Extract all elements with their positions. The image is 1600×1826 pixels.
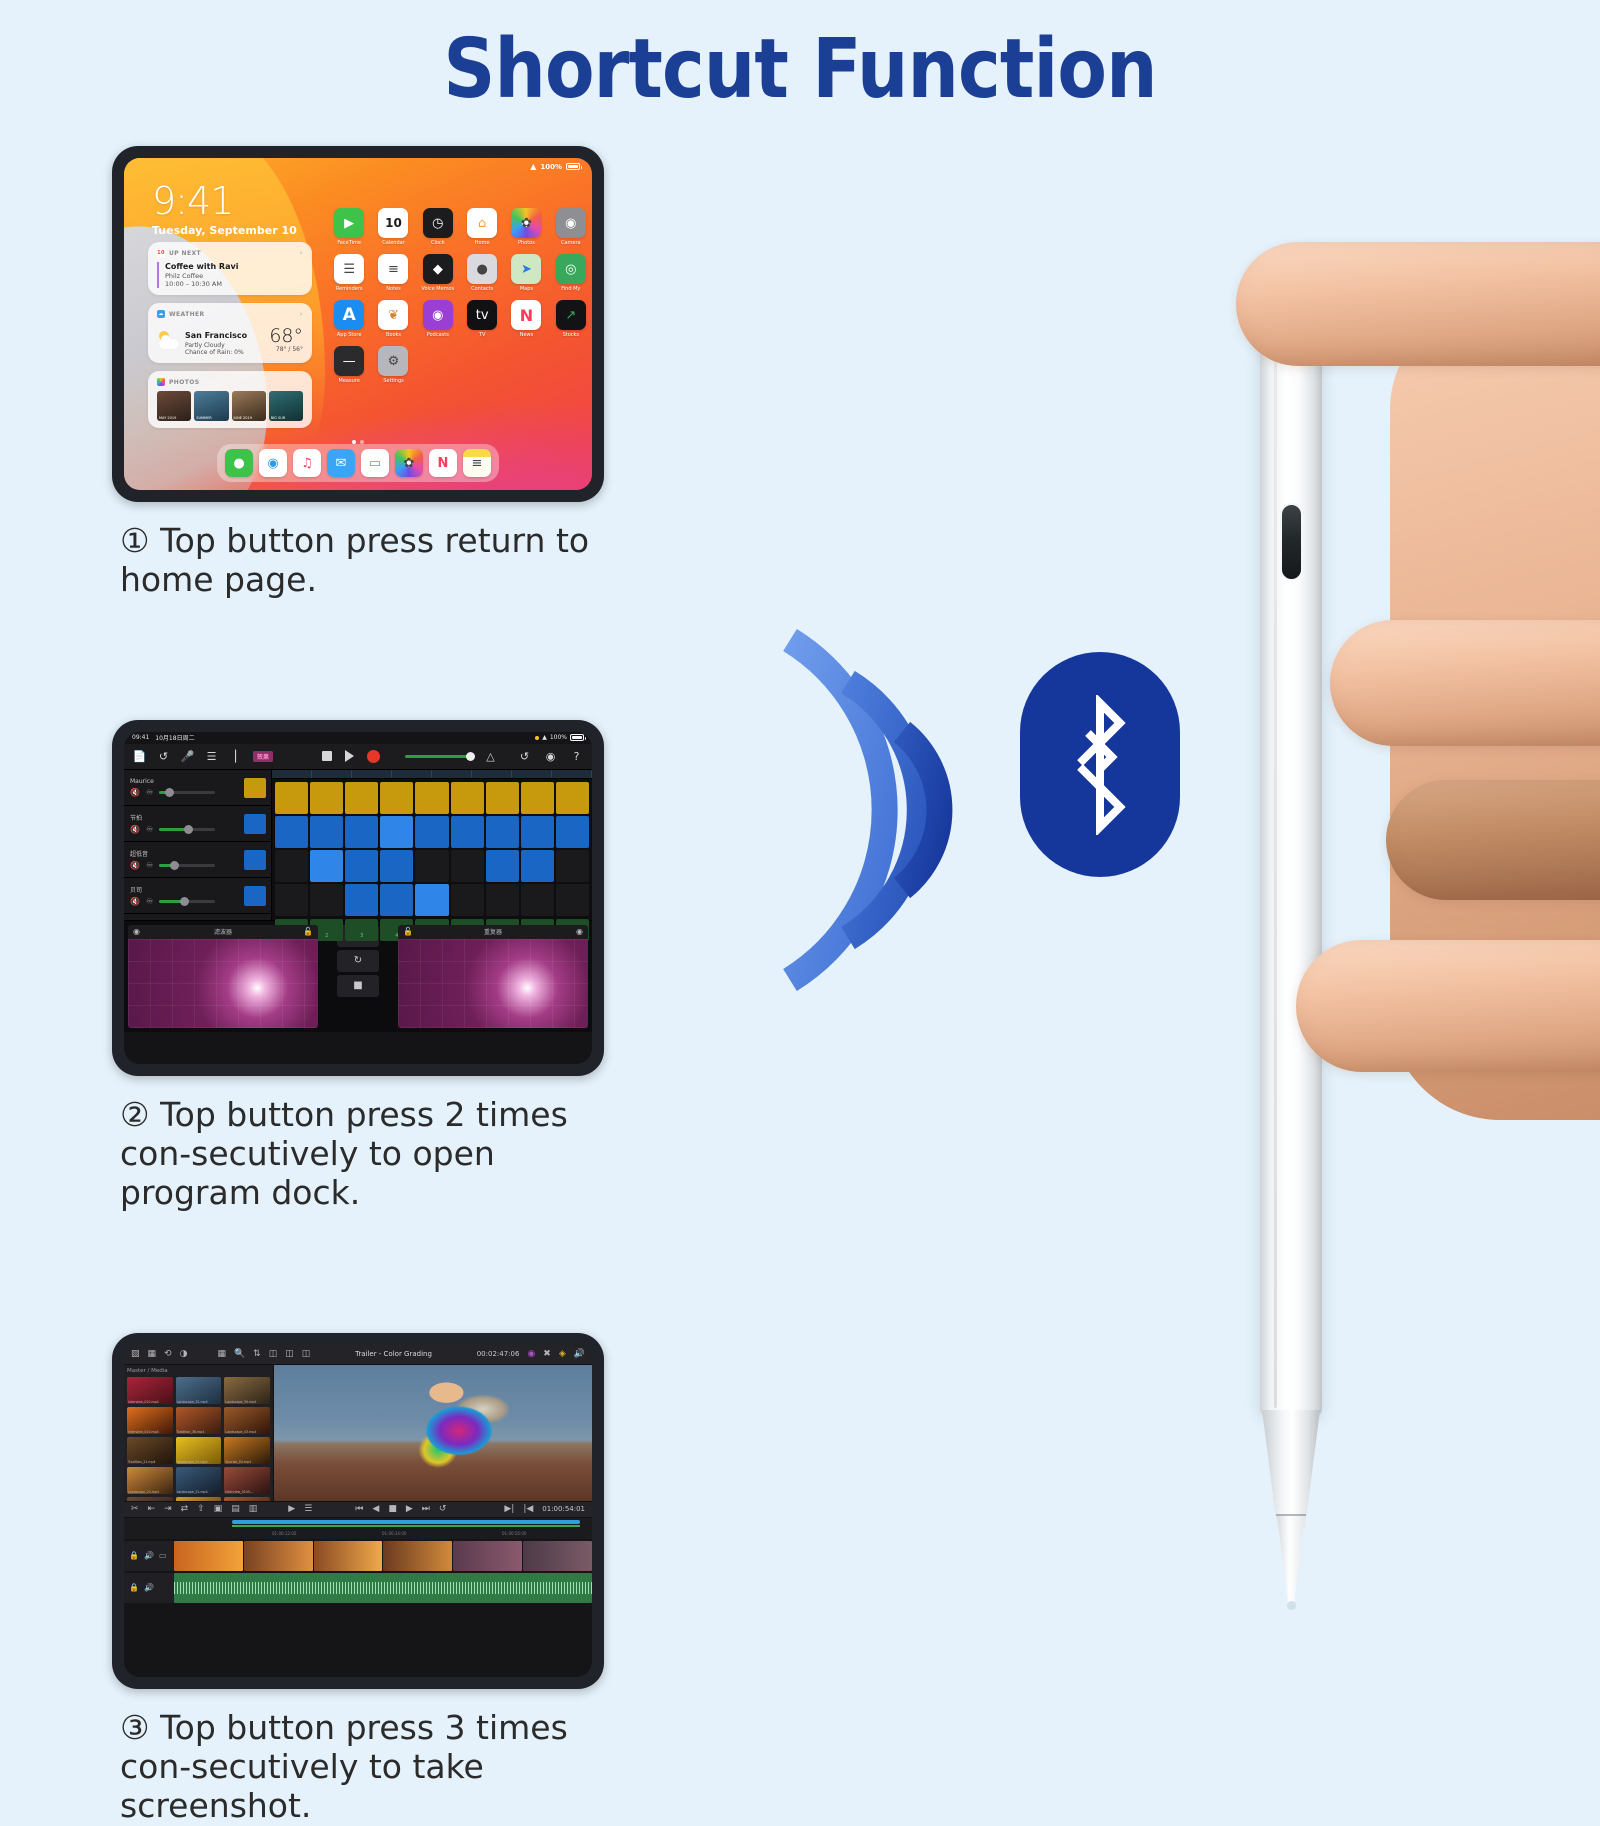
photo-thumb[interactable]: SUMMER	[194, 391, 228, 421]
gb-loop-cell[interactable]	[521, 816, 554, 848]
widget-photos[interactable]: PHOTOS MAY 2019 SUMMER JUNE 2019 BIG SUR	[148, 371, 312, 428]
gb-loop-cell[interactable]	[275, 816, 308, 848]
headphones-icon[interactable]: ♾	[146, 825, 153, 834]
calendar-icon: 10	[378, 208, 408, 238]
app-icon-maps-icon[interactable]: ➤Maps	[507, 254, 545, 292]
color-icon[interactable]: ◑	[180, 1349, 188, 1359]
bass-icon[interactable]	[244, 886, 266, 906]
video-clip[interactable]	[523, 1541, 592, 1571]
master-volume-slider[interactable]	[405, 755, 471, 758]
step-3-caption: ③ Top button press 3 times con-secutivel…	[120, 1709, 640, 1826]
wifi-icon: ▲	[530, 162, 536, 171]
podcasts-icon: ◉	[423, 300, 453, 330]
timeline-mark: 01:00:12:00	[272, 1531, 296, 1536]
gb-empty-cell[interactable]	[275, 850, 308, 882]
photos-strip: MAY 2019 SUMMER JUNE 2019 BIG SUR	[157, 391, 303, 421]
gb-pad-header: ◉ 滤波器 🔓	[128, 925, 318, 939]
insert-icon[interactable]: ⇤	[148, 1504, 156, 1514]
hand-holding-stylus	[1150, 150, 1600, 1570]
gb-loop-cell[interactable]	[486, 850, 519, 882]
gb-loop-cell[interactable]	[486, 782, 519, 814]
app-label: Contacts	[463, 286, 501, 292]
gb-loop-cell[interactable]	[556, 782, 589, 814]
app-label: Settings	[374, 378, 412, 384]
place-on-top-icon[interactable]: ⇧	[197, 1504, 205, 1514]
keyboard-icon[interactable]	[244, 814, 266, 834]
stocks-icon: ↗	[556, 300, 586, 330]
gb-loop-cell[interactable]	[310, 816, 343, 848]
gb-loop-cell[interactable]	[486, 816, 519, 848]
calendar-event: Coffee with Ravi Philz Coffee 10:00 – 10…	[157, 262, 303, 288]
search-icon[interactable]: 🔍	[234, 1349, 245, 1359]
mute-icon[interactable]: 🔇	[130, 788, 140, 797]
drums-icon[interactable]	[244, 850, 266, 870]
dock-mail-icon[interactable]: ✉	[327, 449, 355, 477]
mute-icon[interactable]: 🔇	[130, 897, 140, 906]
stop-icon[interactable]: ■	[388, 1504, 397, 1514]
app-icon-voice-memos-icon[interactable]: ◆Voice Memos	[419, 254, 457, 292]
gb-loop-cell[interactable]	[345, 816, 378, 848]
media-clip-name: Interview_010.mp4	[128, 1430, 159, 1434]
dock-messages-icon[interactable]: ●	[225, 449, 253, 477]
video-clip[interactable]	[314, 1541, 383, 1571]
gb-pad-right: 🔓 重复器 ◉	[398, 925, 588, 1028]
contacts-icon: ●	[467, 254, 497, 284]
photos-badge-icon	[157, 378, 165, 386]
photo-thumb[interactable]: BIG SUR	[269, 391, 303, 421]
step-2-caption: ② Top button press 2 times con-secutivel…	[120, 1096, 640, 1213]
cut-page-icon[interactable]: ▧	[131, 1349, 140, 1359]
widget-column: 10 UP NEXT › Coffee with Ravi Philz Coff…	[148, 242, 312, 436]
media-thumbnail[interactable]: Landscape_32.mp4	[176, 1377, 222, 1404]
dual-view-icon[interactable]: ◫	[285, 1349, 294, 1359]
facetime-icon: ▶	[334, 208, 364, 238]
ve-zoom-bar[interactable]	[124, 1518, 592, 1529]
battery-percent-label: 100%	[540, 163, 562, 171]
gb-loop-cell[interactable]	[345, 850, 378, 882]
ve-clip-row	[174, 1573, 592, 1603]
gb-battery-percent: 100%	[550, 734, 567, 741]
gb-ruler	[272, 770, 592, 779]
edit-page-icon[interactable]: ▦	[148, 1349, 157, 1359]
ve-timecode-ruler: 01:00:12:00 01:00:34:00 01:00:56:00	[124, 1529, 592, 1539]
widget-weather-title: WEATHER	[169, 311, 205, 318]
media-thumbnail[interactable]: Landscape_52.mp4	[176, 1497, 222, 1501]
ve-track-header[interactable]: 🔒 🔊 ▭	[124, 1541, 174, 1571]
split-view-icon[interactable]: ◫	[269, 1349, 278, 1359]
app-label: Books	[374, 332, 412, 338]
media-clip-name: Landscape_32.mp4	[177, 1400, 208, 1404]
dock-safari-icon[interactable]: ◉	[259, 449, 287, 477]
gb-status-bar: 09:41 10月18日周二 ▲ 100%	[124, 732, 592, 744]
gb-cells	[272, 779, 592, 919]
media-thumbnail[interactable]: Landscape_24.mp4	[127, 1467, 173, 1494]
stylus-body	[1260, 326, 1322, 1416]
app-icon-measure-icon[interactable]: —Measure	[330, 346, 368, 384]
widget-up-next[interactable]: 10 UP NEXT › Coffee with Ravi Philz Coff…	[148, 242, 312, 295]
snapshot-icon[interactable]: ◉	[133, 927, 140, 936]
weather-rain: Chance of Rain: 0%	[185, 349, 247, 356]
audio-clip[interactable]	[174, 1573, 592, 1603]
app-icon-tv-icon[interactable]: tvTV	[463, 300, 501, 338]
widget-header: 10 UP NEXT ›	[157, 249, 303, 257]
step-back-icon[interactable]: ◀	[372, 1504, 379, 1514]
app-icon-podcasts-icon[interactable]: ◉Podcasts	[419, 300, 457, 338]
widget-header: PHOTOS	[157, 378, 303, 386]
media-thumbnail[interactable]: Landscape_30.mp4	[224, 1377, 270, 1404]
ipad-device-garageband: 09:41 10月18日周二 ▲ 100% 📄 ↺ 🎤 ☰ ⎮ 效果	[112, 720, 604, 1076]
gb-live-loops-grid: 123456789	[272, 770, 592, 920]
loop-icon[interactable]: ↺	[157, 750, 170, 763]
weather-badge-icon: ☁	[157, 310, 165, 318]
gb-pad-label: 重复器	[484, 927, 502, 936]
app-label: Find My	[552, 286, 590, 292]
gb-loop-cell[interactable]	[521, 782, 554, 814]
chevron-right-icon[interactable]: ›	[300, 249, 303, 257]
stylus-cone	[1262, 1410, 1320, 1528]
app-icon-settings-icon[interactable]: ⚙Settings	[374, 346, 412, 384]
media-thumbnail[interactable]: Tradition_20.mp4	[127, 1497, 173, 1501]
app-icon-photos-icon[interactable]: ✿Photos	[507, 208, 545, 246]
gb-date: 10月18日周二	[155, 733, 194, 742]
ve-track-header[interactable]: 🔒 🔊	[124, 1573, 174, 1603]
gb-loop-cell[interactable]	[451, 782, 484, 814]
grid-view-icon[interactable]: ▦	[217, 1349, 226, 1359]
metronome-icon[interactable]: △	[484, 750, 497, 763]
gb-empty-cell[interactable]	[556, 850, 589, 882]
lockscreen-clock: 9:41 Tuesday, September 10	[152, 182, 297, 237]
thumb	[1296, 940, 1600, 1072]
clock-time: 9:41	[152, 182, 297, 220]
battery-icon	[570, 734, 584, 741]
microphone-icon[interactable]: 🎤	[181, 750, 194, 763]
app-icon-facetime-icon[interactable]: ▶FaceTime	[330, 208, 368, 246]
media-thumbnail[interactable]: Landscape_43.mp4	[224, 1407, 270, 1434]
media-thumbnail[interactable]: Sunrise_04.mp4	[224, 1437, 270, 1464]
headphones-icon[interactable]: ♾	[146, 788, 153, 797]
media-thumbnail[interactable]: Interview_0105...	[224, 1467, 270, 1494]
ve-video-track: 🔒 🔊 ▭	[124, 1541, 592, 1571]
page-title: Shortcut Function	[96, 22, 1504, 117]
voice-memos-icon: ◆	[423, 254, 453, 284]
gb-loop-cell[interactable]	[415, 782, 448, 814]
gb-empty-cell[interactable]	[486, 884, 519, 916]
mark-out-icon[interactable]: |◀	[523, 1504, 533, 1514]
gb-pad-header: 🔓 重复器 ◉	[398, 925, 588, 939]
gb-loop-cell[interactable]	[380, 850, 413, 882]
event-title: Coffee with Ravi	[165, 262, 303, 271]
loop-icon[interactable]: ↻	[337, 950, 379, 972]
media-thumbnail[interactable]: Landscape_52.mp4	[176, 1437, 222, 1464]
ve-edit-tools: ✂ ⇤ ⇥ ⇄ ⇧ ▣ ▤ ▥ ▶ ☰ ⏮ ◀ ■ ▶ ⏭ ↺ ▶|	[124, 1501, 592, 1518]
ve-viewer[interactable]	[274, 1365, 592, 1501]
unlocked-icon[interactable]: 🔓	[303, 927, 313, 936]
gb-column-trigger[interactable]: 3	[345, 919, 378, 941]
filmstrip-icon[interactable]: ◫	[302, 1349, 311, 1359]
wifi-icon: ▲	[542, 734, 547, 741]
weather-temp: 68°	[269, 327, 303, 346]
mute-icon[interactable]: 🔇	[130, 825, 140, 834]
ripple-icon[interactable]: ▣	[214, 1504, 223, 1514]
ve-scrollbar[interactable]	[232, 1520, 580, 1524]
media-clip-name: Landscape_30.mp4	[225, 1400, 256, 1404]
mute-icon[interactable]: 🔊	[144, 1551, 154, 1560]
document-icon[interactable]: 📄	[133, 750, 146, 763]
gb-empty-cell[interactable]	[451, 884, 484, 916]
reminders-icon: ☰	[334, 254, 364, 284]
stop-icon[interactable]: ■	[337, 975, 379, 997]
gb-empty-cell[interactable]	[556, 884, 589, 916]
app-icon-camera-icon[interactable]: ◉Camera	[552, 208, 590, 246]
headphones-icon[interactable]: ♾	[146, 897, 153, 906]
timeline-mark: 01:00:34:00	[382, 1531, 406, 1536]
palette-icon[interactable]: ◈	[559, 1349, 566, 1359]
stylus-nib	[1276, 1516, 1306, 1608]
media-clip-name: Landscape_24.mp4	[128, 1490, 159, 1494]
settings-icon: ⚙	[378, 346, 408, 376]
track-volume-slider[interactable]	[159, 828, 215, 831]
app-label: Voice Memos	[419, 286, 457, 292]
app-grid: ▶FaceTime10Calendar◷Clock⌂Home✿Photos◉Ca…	[330, 208, 590, 384]
weather-body: San Francisco Partly Cloudy Chance of Ra…	[157, 323, 303, 356]
app-label: TV	[463, 332, 501, 338]
app-icon-app-store-icon[interactable]: AApp Store	[330, 300, 368, 338]
video-clip[interactable]	[453, 1541, 522, 1571]
app-icon-home-icon[interactable]: ⌂Home	[463, 208, 501, 246]
gb-empty-cell[interactable]	[521, 884, 554, 916]
gb-loop-cell[interactable]	[380, 884, 413, 916]
app-label: Photos	[507, 240, 545, 246]
gb-empty-cell[interactable]	[451, 850, 484, 882]
media-thumbnail[interactable]: Sunrise_04.mp4	[224, 1497, 270, 1501]
mixer-icon[interactable]: ☰	[205, 750, 218, 763]
gb-loop-cell[interactable]	[275, 782, 308, 814]
gb-loop-cell[interactable]	[380, 782, 413, 814]
record-button[interactable]	[367, 750, 380, 763]
fusion-icon[interactable]: ⟲	[164, 1349, 172, 1359]
loop-browser-icon[interactable]: ↺	[518, 750, 531, 763]
app-label: Maps	[507, 286, 545, 292]
gb-track[interactable]: 超低音🔇♾	[124, 842, 271, 878]
dock: ●◉♫✉▭✿N≡	[217, 444, 499, 482]
help-icon[interactable]: ?	[570, 750, 583, 763]
weather-temps: 68° 78° / 56°	[269, 327, 303, 353]
app-label: Clock	[419, 240, 457, 246]
append-icon[interactable]: ▤	[231, 1504, 240, 1514]
photo-thumb[interactable]: MAY 2019	[157, 391, 191, 421]
bluetooth-rune-icon	[1068, 695, 1132, 835]
video-clip[interactable]	[244, 1541, 313, 1571]
app-label: Camera	[552, 240, 590, 246]
widget-weather[interactable]: ☁ WEATHER › San Francisco Partly Cloudy …	[148, 303, 312, 363]
photo-thumb[interactable]: JUNE 2019	[232, 391, 266, 421]
dock-news-icon[interactable]: N	[429, 449, 457, 477]
ring-finger	[1386, 780, 1600, 900]
gb-loop-cell[interactable]	[415, 884, 448, 916]
app-icon-books-icon[interactable]: ❦Books	[374, 300, 412, 338]
gb-track[interactable]: 节拍🔇♾	[124, 806, 271, 842]
gb-loop-cell[interactable]	[380, 816, 413, 848]
media-clip-name: Landscape_43.mp4	[225, 1430, 256, 1434]
play-button[interactable]	[345, 750, 354, 762]
color-wheel-icon[interactable]: ◉	[527, 1349, 535, 1359]
app-label: FaceTime	[330, 240, 368, 246]
lock-icon[interactable]: 🔒	[129, 1551, 139, 1560]
ve-clip-row	[174, 1541, 592, 1571]
media-thumbnail[interactable]: Interview_010.mp4	[127, 1407, 173, 1434]
mute-icon[interactable]: 🔇	[130, 861, 140, 870]
gb-loop-cell[interactable]	[345, 782, 378, 814]
ve-thumbnail-grid: Interview_010.mp4Landscape_32.mp4Landsca…	[127, 1377, 270, 1501]
speaker-icon[interactable]: 🔊	[144, 1583, 154, 1592]
ve-toolbar: ▧ ▦ ⟲ ◑ ▦ 🔍 ⇅ ◫ ◫ ◫ Trailer - Color Grad…	[124, 1345, 592, 1365]
recording-indicator-icon	[535, 736, 539, 740]
track-volume-slider[interactable]	[159, 864, 215, 867]
gb-loop-cell[interactable]	[556, 816, 589, 848]
headphones-icon[interactable]: ♾	[146, 861, 153, 870]
event-time: 10:00 – 10:30 AM	[165, 280, 303, 288]
loop-icon[interactable]: ↺	[439, 1504, 447, 1514]
video-editor-app: ▧ ▦ ⟲ ◑ ▦ 🔍 ⇅ ◫ ◫ ◫ Trailer - Color Grad…	[124, 1345, 592, 1677]
app-label: Podcasts	[419, 332, 457, 338]
app-store-icon: A	[334, 300, 364, 330]
chevron-right-icon[interactable]: ›	[300, 310, 303, 318]
gb-empty-cell[interactable]	[310, 884, 343, 916]
index-finger	[1236, 242, 1600, 366]
stylus-top-button[interactable]	[1280, 503, 1303, 581]
media-thumbnail[interactable]: Tradition_36.mp4	[176, 1407, 222, 1434]
fader-icon[interactable]: ⎮	[229, 750, 242, 763]
ve-video-subject	[382, 1376, 522, 1496]
smart-insert-icon[interactable]: ▥	[249, 1504, 258, 1514]
dock-music-icon[interactable]: ♫	[293, 449, 321, 477]
stylus-nib-seam	[1276, 1514, 1306, 1516]
app-icon-contacts-icon[interactable]: ●Contacts	[463, 254, 501, 292]
find-my-icon: ◎	[556, 254, 586, 284]
app-icon-notes-icon[interactable]: ≡Notes	[374, 254, 412, 292]
gb-effects-tag[interactable]: 效果	[253, 751, 273, 762]
media-thumbnail[interactable]: Interview_010.mp4	[127, 1377, 173, 1404]
widget-header: ☁ WEATHER ›	[157, 310, 303, 318]
video-clip[interactable]	[383, 1541, 452, 1571]
app-icon-find-my-icon[interactable]: ◎Find My	[552, 254, 590, 292]
video-clip[interactable]	[174, 1541, 243, 1571]
settings-gear-icon[interactable]: ◉	[544, 750, 557, 763]
app-label: Reminders	[330, 286, 368, 292]
go-end-icon[interactable]: ⏭	[422, 1504, 430, 1514]
lock-icon[interactable]: 🔒	[129, 1583, 139, 1592]
play-icon[interactable]: ▶	[406, 1504, 413, 1514]
gb-time: 09:41	[132, 734, 149, 741]
clock-date: Tuesday, September 10	[152, 224, 297, 237]
gb-empty-cell[interactable]	[415, 850, 448, 882]
weather-city: San Francisco	[185, 331, 247, 340]
bluetooth-graphic	[760, 600, 1180, 1020]
gb-loop-cell[interactable]	[451, 816, 484, 848]
app-icon-clock-icon[interactable]: ◷Clock	[419, 208, 457, 246]
unlocked-icon[interactable]: 🔓	[403, 927, 413, 936]
track-volume-slider[interactable]	[159, 791, 215, 794]
app-label: Notes	[374, 286, 412, 292]
ve-audio-track: 🔒 🔊	[124, 1573, 592, 1603]
stylus-nib-tip	[1287, 1601, 1296, 1610]
gb-pad-left: ◉ 滤波器 🔓	[128, 925, 318, 1028]
battery-icon	[566, 163, 580, 170]
status-bar: ▲ 100%	[530, 162, 580, 171]
dock-notes-icon[interactable]: ≡	[463, 449, 491, 477]
effects-icon[interactable]: ✖	[543, 1349, 551, 1359]
app-label: News	[507, 332, 545, 338]
drum-machine-icon[interactable]	[244, 778, 266, 798]
go-start-icon[interactable]: ⏮	[355, 1504, 363, 1514]
app-icon-stocks-icon[interactable]: ↗Stocks	[552, 300, 590, 338]
weather-condition: Partly Cloudy	[185, 342, 247, 349]
gb-pad-label: 滤波器	[214, 927, 232, 936]
media-clip-name: Sunrise_04.mp4	[225, 1460, 251, 1464]
maps-icon: ➤	[511, 254, 541, 284]
media-thumbnail[interactable]: Tradition_21.mp4	[127, 1437, 173, 1464]
source-tape-icon[interactable]: ▶	[288, 1504, 295, 1514]
notes-icon: ≡	[378, 254, 408, 284]
sun-cloud-icon	[157, 330, 181, 350]
app-icon-news-icon[interactable]: NNews	[507, 300, 545, 338]
stop-button[interactable]	[322, 751, 332, 761]
track-volume-slider[interactable]	[159, 900, 215, 903]
media-clip-name: Interview_010.mp4	[128, 1400, 159, 1404]
gb-loop-cell[interactable]	[521, 850, 554, 882]
gb-xy-pad[interactable]	[128, 939, 318, 1028]
gb-empty-cell[interactable]	[275, 884, 308, 916]
ipad-device-video-editor: ▧ ▦ ⟲ ◑ ▦ 🔍 ⇅ ◫ ◫ ◫ Trailer - Color Grad…	[112, 1333, 604, 1689]
app-icon-reminders-icon[interactable]: ☰Reminders	[330, 254, 368, 292]
books-icon: ❦	[378, 300, 408, 330]
gb-loop-cell[interactable]	[415, 816, 448, 848]
dock-photos-icon[interactable]: ✿	[395, 449, 423, 477]
snapshot-icon[interactable]: ◉	[576, 927, 583, 936]
measure-icon: —	[334, 346, 364, 376]
garageband-app: 09:41 10月18日周二 ▲ 100% 📄 ↺ 🎤 ☰ ⎮ 效果	[124, 732, 592, 1064]
gb-loop-cell[interactable]	[345, 884, 378, 916]
gb-track[interactable]: 贝司🔇♾	[124, 878, 271, 914]
active-stylus[interactable]	[1260, 298, 1322, 1498]
timeline-view-icon[interactable]: ☰	[304, 1504, 312, 1514]
app-label: Stocks	[552, 332, 590, 338]
mark-in-icon[interactable]: ▶|	[504, 1504, 514, 1514]
stylus-highlight	[1274, 358, 1277, 1408]
app-label: App Store	[330, 332, 368, 338]
app-label: Calendar	[374, 240, 412, 246]
media-thumbnail[interactable]: Landscape_21.mp4	[176, 1467, 222, 1494]
gb-loop-cell[interactable]	[310, 850, 343, 882]
clock-icon: ◷	[423, 208, 453, 238]
widget-photos-title: PHOTOS	[169, 379, 199, 386]
overwrite-icon[interactable]: ⇥	[164, 1504, 172, 1514]
app-label: Measure	[330, 378, 368, 384]
gb-xy-pad[interactable]	[398, 939, 588, 1028]
app-icon-calendar-icon[interactable]: 10Calendar	[374, 208, 412, 246]
gb-loop-cell[interactable]	[310, 782, 343, 814]
gb-track[interactable]: Maurice🔇♾	[124, 770, 271, 806]
photos-icon: ✿	[511, 208, 541, 238]
trim-icon[interactable]: ✂	[131, 1504, 139, 1514]
dock-files-icon[interactable]: ▭	[361, 449, 389, 477]
widget-up-next-title: UP NEXT	[169, 250, 201, 257]
audio-icon[interactable]: 🔊	[574, 1349, 585, 1359]
replace-icon[interactable]: ⇄	[181, 1504, 189, 1514]
media-clip-name: Landscape_21.mp4	[177, 1490, 208, 1494]
sort-icon[interactable]: ⇅	[253, 1349, 261, 1359]
monitor-icon[interactable]: ▭	[159, 1551, 167, 1560]
